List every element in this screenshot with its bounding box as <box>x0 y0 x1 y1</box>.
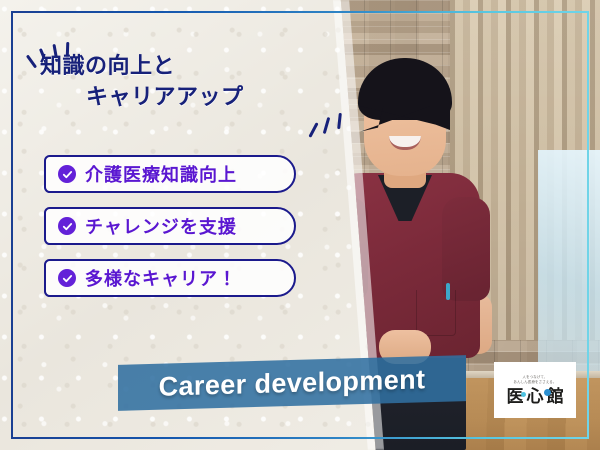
check-circle-icon <box>58 165 76 183</box>
logo-tagline: 人をつなげて、 あんしん医療をささえる。 <box>514 375 557 385</box>
page-title: 知識の向上と キャリアアップ <box>40 50 330 112</box>
logo-char-kokoro: 心 <box>527 387 544 406</box>
check-circle-icon <box>58 269 76 287</box>
logo-center-mark: 心 <box>527 388 544 405</box>
feature-item-1[interactable]: 介護医療知識向上 <box>44 155 296 193</box>
logo-wordmark: 医 心 館 <box>507 388 564 405</box>
headline-line-1: 知識の向上と <box>40 53 175 78</box>
logo-dot-small-icon <box>521 392 526 397</box>
feature-item-2[interactable]: チャレンジを支援 <box>44 207 296 245</box>
check-circle-icon <box>58 217 76 235</box>
logo-char-i: 医 <box>507 388 524 405</box>
career-development-ribbon: Career development <box>118 355 466 411</box>
feature-item-3[interactable]: 多様なキャリア！ <box>44 259 296 297</box>
brand-logo[interactable]: 人をつなげて、 あんしん医療をささえる。 医 心 館 <box>494 362 576 418</box>
feature-list: 介護医療知識向上 チャレンジを支援 多様なキャリア！ <box>44 155 296 297</box>
feature-item-label: 介護医療知識向上 <box>85 161 237 187</box>
career-development-text: Career development <box>159 364 426 402</box>
feature-item-label: 多様なキャリア！ <box>85 265 237 291</box>
logo-dot-large-icon <box>544 389 551 396</box>
career-development-banner: 知識の向上と キャリアアップ 介護医療知識向上 チャレンジを支援 <box>0 0 600 450</box>
feature-item-label: チャレンジを支援 <box>85 213 237 239</box>
headline-line-2: キャリアアップ <box>40 81 330 112</box>
